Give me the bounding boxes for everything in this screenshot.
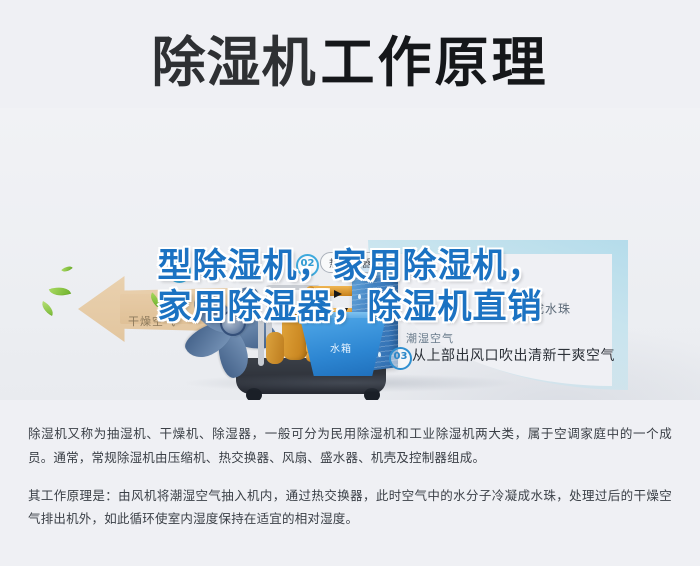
flow-arrow-icon: [334, 290, 342, 298]
water-drop-icon: [378, 352, 381, 357]
fan-hub: [220, 310, 246, 336]
coil-bend: [306, 286, 315, 310]
refrigerant-pipe: [258, 318, 264, 366]
page-title-part1: 除湿机: [152, 36, 317, 90]
heat-exchanger-callout: 热交换器: [320, 252, 382, 273]
infographic-page: 除湿机 工作原理 干燥空气: [0, 0, 700, 566]
step-badge-02: 02: [296, 254, 319, 277]
page-title: 除湿机 工作原理: [0, 24, 700, 102]
step-badge-03: 03: [168, 260, 191, 283]
compressor-secondary: [266, 332, 284, 364]
description-section: 除湿机又称为抽湿机、干燥机、除湿器，一般可分为民用除湿机和工业除湿机两大类，属于…: [0, 404, 700, 566]
water-drop-icon: [358, 294, 361, 299]
step-badge-03-caption: 03: [389, 347, 412, 370]
description-paragraph-2: 其工作原理是：由风机将潮湿空气抽入机内，通过热交换器，此时空气中的水分子冷凝成水…: [28, 484, 672, 532]
step-badge-01: 01: [409, 294, 432, 317]
description-paragraph-1: 除湿机又称为抽湿机、干燥机、除湿器，一般可分为民用除湿机和工业除湿机两大类，属于…: [28, 422, 672, 470]
water-bead-label: 成水珠: [532, 300, 571, 317]
page-title-part2: 工作原理: [321, 36, 549, 90]
humid-air-label: 潮湿空气: [406, 330, 454, 346]
water-tank-label: 水箱: [330, 340, 352, 355]
step-03-caption: 从上部出风口吹出清新干爽空气: [412, 345, 615, 365]
